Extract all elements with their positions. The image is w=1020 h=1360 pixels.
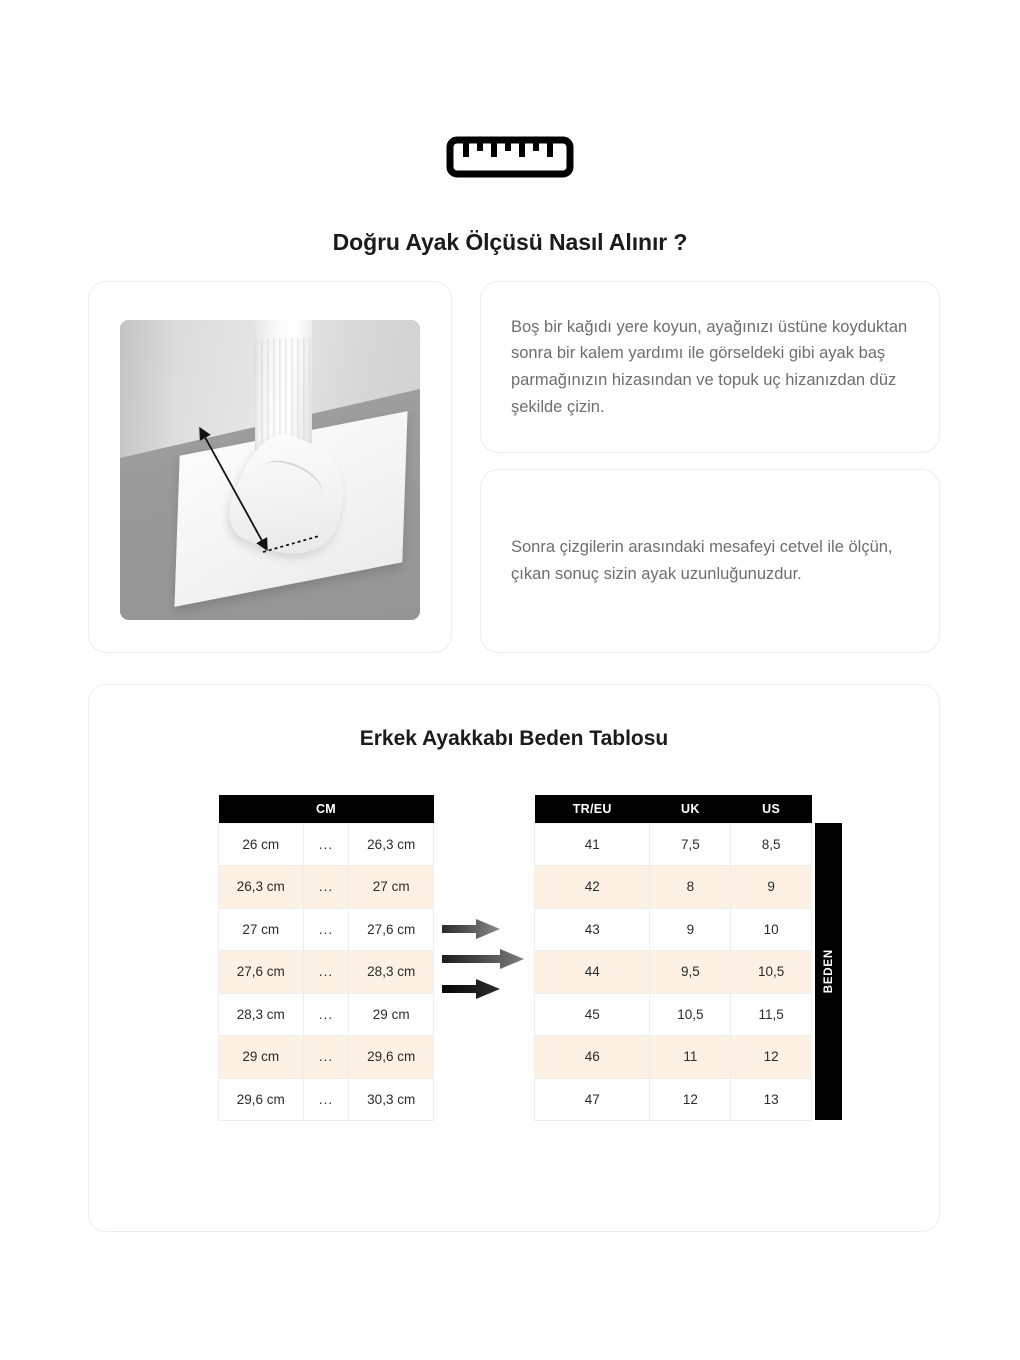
table-row: 29,6 cm ... 30,3 cm — [219, 1078, 434, 1121]
cell-tr-eu: 46 — [535, 1036, 650, 1079]
size-table-card: Erkek Ayakkabı Beden Tablosu CM 26 cm ..… — [88, 684, 940, 1232]
cell-uk: 8 — [650, 866, 731, 909]
cell-uk: 11 — [650, 1036, 731, 1079]
beden-label: BEDEN — [823, 949, 835, 993]
instruction-text-2: Sonra çizgilerin arasındaki mesafeyi cet… — [511, 534, 909, 587]
cm-from: 27,6 cm — [219, 951, 304, 994]
cell-us: 10,5 — [731, 951, 812, 994]
measurement-arrow-overlay — [120, 320, 420, 620]
ruler-icon — [446, 136, 574, 183]
cell-uk: 12 — [650, 1078, 731, 1121]
instruction-text-1: Boş bir kağıdı yere koyun, ayağınızı üst… — [511, 314, 909, 421]
table-row: 42 8 9 — [535, 866, 812, 909]
size-conversion-table: TR/EU UK US 41 7,5 8,5 42 8 9 — [534, 795, 812, 1121]
cm-to: 27 cm — [349, 866, 434, 909]
arrow-right-short-icon — [442, 919, 500, 939]
cm-to: 26,3 cm — [349, 823, 434, 866]
cell-tr-eu: 44 — [535, 951, 650, 994]
table-row: 44 9,5 10,5 — [535, 951, 812, 994]
cell-uk: 7,5 — [650, 823, 731, 866]
cm-separator: ... — [303, 866, 349, 909]
arrow-right-short-dark-icon — [442, 979, 500, 999]
instruction-card-2: Sonra çizgilerin arasındaki mesafeyi cet… — [480, 469, 940, 653]
cm-to: 28,3 cm — [349, 951, 434, 994]
cell-uk: 9 — [650, 908, 731, 951]
cell-us: 11,5 — [731, 993, 812, 1036]
table-row: 41 7,5 8,5 — [535, 823, 812, 866]
cell-uk: 9,5 — [650, 951, 731, 994]
instruction-card-1: Boş bir kağıdı yere koyun, ayağınızı üst… — [480, 281, 940, 453]
table-row: 28,3 cm ... 29 cm — [219, 993, 434, 1036]
table-row: 27,6 cm ... 28,3 cm — [219, 951, 434, 994]
cell-us: 13 — [731, 1078, 812, 1121]
cell-us: 9 — [731, 866, 812, 909]
cell-tr-eu: 43 — [535, 908, 650, 951]
cm-separator: ... — [303, 823, 349, 866]
conversion-arrows — [434, 795, 534, 999]
cell-tr-eu: 42 — [535, 866, 650, 909]
table-row: 27 cm ... 27,6 cm — [219, 908, 434, 951]
table-row: 26 cm ... 26,3 cm — [219, 823, 434, 866]
cell-tr-eu: 47 — [535, 1078, 650, 1121]
table-row: 47 12 13 — [535, 1078, 812, 1121]
cm-from: 26,3 cm — [219, 866, 304, 909]
cm-table-header-row: CM — [219, 795, 434, 823]
table-row: 43 9 10 — [535, 908, 812, 951]
cm-separator: ... — [303, 993, 349, 1036]
cm-separator: ... — [303, 1078, 349, 1121]
cell-tr-eu: 45 — [535, 993, 650, 1036]
instructions-column: Boş bir kağıdı yere koyun, ayağınızı üst… — [480, 281, 940, 653]
cm-table: CM 26 cm ... 26,3 cm 26,3 cm ... 27 cm — [218, 795, 434, 1121]
foot-measurement-photo — [120, 320, 420, 620]
cm-to: 29 cm — [349, 993, 434, 1036]
cm-separator: ... — [303, 908, 349, 951]
cm-from: 29 cm — [219, 1036, 304, 1079]
cm-from: 27 cm — [219, 908, 304, 951]
header-tr-eu: TR/EU — [535, 795, 650, 823]
cm-from: 29,6 cm — [219, 1078, 304, 1121]
cell-uk: 10,5 — [650, 993, 731, 1036]
cell-us: 8,5 — [731, 823, 812, 866]
page-title: Doğru Ayak Ölçüsü Nasıl Alınır ? — [333, 229, 688, 256]
cell-us: 12 — [731, 1036, 812, 1079]
cm-to: 29,6 cm — [349, 1036, 434, 1079]
table-row: 29 cm ... 29,6 cm — [219, 1036, 434, 1079]
cm-separator: ... — [303, 951, 349, 994]
beden-vertical-bar: BEDEN — [815, 823, 842, 1120]
table-row: 46 11 12 — [535, 1036, 812, 1079]
cell-tr-eu: 41 — [535, 823, 650, 866]
size-table-header-row: TR/EU UK US — [535, 795, 812, 823]
cm-from: 26 cm — [219, 823, 304, 866]
cm-to: 30,3 cm — [349, 1078, 434, 1121]
cm-to: 27,6 cm — [349, 908, 434, 951]
page-header: Doğru Ayak Ölçüsü Nasıl Alınır ? — [0, 136, 1020, 256]
table-row: 26,3 cm ... 27 cm — [219, 866, 434, 909]
size-tables-row: CM 26 cm ... 26,3 cm 26,3 cm ... 27 cm — [89, 795, 941, 1121]
header-uk: UK — [650, 795, 731, 823]
table-row: 45 10,5 11,5 — [535, 993, 812, 1036]
arrow-right-long-icon — [442, 949, 524, 969]
cell-us: 10 — [731, 908, 812, 951]
cm-separator: ... — [303, 1036, 349, 1079]
cm-from: 28,3 cm — [219, 993, 304, 1036]
size-guide-page: Doğru Ayak Ölçüsü Nasıl Alınır ? — [0, 0, 1020, 1360]
cm-header-cell: CM — [219, 795, 434, 823]
header-us: US — [731, 795, 812, 823]
size-table-title: Erkek Ayakkabı Beden Tablosu — [89, 727, 939, 751]
foot-photo-card — [88, 281, 452, 653]
